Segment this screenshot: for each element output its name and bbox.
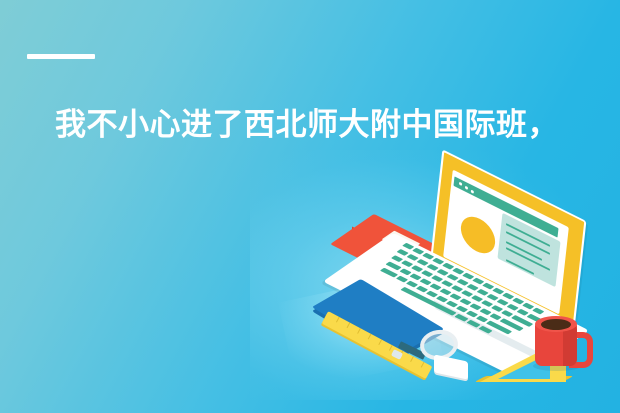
coffee-liquid [541, 319, 571, 330]
browser-dot-2 [465, 186, 468, 190]
poster-banner: 我不小心进了西北师大附中国际班， [0, 0, 620, 413]
browser-dot-1 [459, 182, 462, 186]
coffee-mug-body-shade [563, 326, 577, 366]
browser-dot-3 [471, 190, 474, 194]
illustration [330, 180, 620, 413]
page-title: 我不小心进了西北师大附中国际班， [55, 104, 585, 146]
accent-rule [27, 54, 95, 59]
